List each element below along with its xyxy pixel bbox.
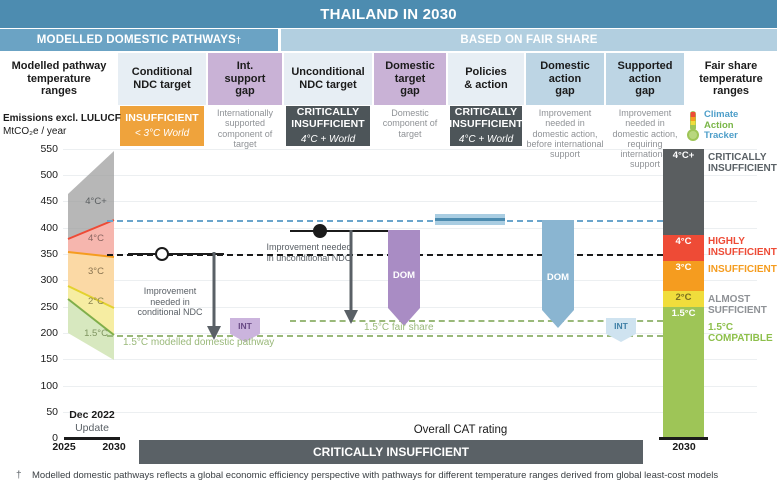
colhead-fair-share-temperature-ranges: Fair share temperature ranges <box>686 53 776 105</box>
refline-policies-action <box>107 220 663 222</box>
colhead-domestic-target-gap: Domestic target gap <box>374 53 446 105</box>
rating-policies-action: CRITICALLY INSUFFICIENT 4°C + World <box>450 106 522 146</box>
fairshare-segment-3c[interactable]: 3°C <box>663 261 704 291</box>
climate-action-tracker-logo: Climate Action Tracker <box>686 108 772 144</box>
fairshare-segment-label: 2°C <box>676 292 692 303</box>
rating-world: 4°C + World <box>301 134 355 145</box>
rating-world: < 3°C World <box>135 128 189 139</box>
colhead-conditional-ndc-target: Conditional NDC target <box>118 53 206 105</box>
colhead-label: Domestic action gap <box>540 60 590 99</box>
unconditional-ndc-line <box>290 230 390 232</box>
colhead-unconditional-ndc-target: Unconditional NDC target <box>284 53 372 105</box>
note-text: Domestic component of target <box>374 108 446 139</box>
fairshare-rating-text: ALMOST SUFFICIENT <box>708 294 767 316</box>
fairshare-segment-4c[interactable]: 4°C <box>663 235 704 261</box>
footnote-text: Modelled domestic pathways reflects a gl… <box>32 470 718 481</box>
overall-cat-rating-value: CRITICALLY INSUFFICIENT <box>313 445 469 459</box>
band-label-1p5c: 1.5°C <box>84 328 108 339</box>
conditional-ndc-gap-arrow <box>206 250 222 342</box>
fairshare-segment-1p5c[interactable]: 1.5°C <box>663 307 704 438</box>
note-text: Internationally supported component of t… <box>208 108 282 149</box>
section-label-left: MODELLED DOMESTIC PATHWAYS <box>37 34 236 46</box>
colhead-label: Fair share temperature ranges <box>699 60 763 99</box>
colhead-supported-action-gap: Supported action gap <box>606 53 684 105</box>
policies-action-central-line <box>435 218 505 221</box>
fairshare-rating-text: CRITICALLY INSUFFICIENT <box>708 152 777 174</box>
fairshare-rating-critically-insufficient: CRITICALLY INSUFFICIENT <box>708 152 777 174</box>
colhead-label: Policies & action <box>464 66 507 92</box>
fairshare-rating-text: HIGHLY INSUFFICIENT <box>708 236 777 258</box>
right-baseline <box>659 437 708 440</box>
band-label-3c: 3°C <box>88 266 104 277</box>
page-title-text: THAILAND IN 2030 <box>320 6 457 23</box>
rating-world: 4°C + World <box>459 134 513 145</box>
fairshare-rating-text: INSUFFICIENT <box>708 264 777 275</box>
page-title: THAILAND IN 2030 <box>0 0 777 28</box>
fairshare-rating-1p5c-compatible: 1.5°C COMPATIBLE <box>708 322 777 344</box>
fairshare-segment-label: 4°C+ <box>673 150 695 161</box>
logo-line-3: Tracker <box>704 131 738 142</box>
rating-label: CRITICALLY INSUFFICIENT <box>291 107 365 131</box>
band-label-4c: 4°C <box>88 233 104 244</box>
colhead-policies-and-action: Policies & action <box>448 53 524 105</box>
colhead-int-support-gap: Int. support gap <box>208 53 282 105</box>
chart-plot-area: 550 500 450 400 350 300 250 200 150 100 … <box>0 146 777 442</box>
footnote-marker: † <box>16 470 22 481</box>
rating-conditional-ndc: INSUFFICIENT < 3°C World <box>120 106 204 146</box>
rating-label: CRITICALLY INSUFFICIENT <box>449 107 523 131</box>
fairshare-rating-insufficient: INSUFFICIENT <box>708 264 777 275</box>
label-1p5c-fair-share: 1.5°C fair share <box>364 322 434 333</box>
rating-unconditional-ndc: CRITICALLY INSUFFICIENT 4°C + World <box>286 106 370 146</box>
svg-text:DOM: DOM <box>393 270 415 281</box>
colhead-domestic-action-gap: Domestic action gap <box>526 53 604 105</box>
overall-cat-rating-bar: CRITICALLY INSUFFICIENT <box>139 440 643 464</box>
domestic-action-gap-arrow[interactable]: DOM <box>542 220 574 332</box>
colhead-label: Int. support gap <box>225 60 266 99</box>
colhead-modelled-pathway-temperature-ranges: Modelled pathway temperature ranges <box>2 53 116 105</box>
xlabel-2025: 2025 <box>44 441 84 453</box>
note-domestic-target-gap: Domestic component of target <box>374 106 446 150</box>
overall-cat-rating-label: Overall CAT rating <box>278 424 643 436</box>
band-label-2c: 2°C <box>88 296 104 307</box>
unconditional-ndc-marker[interactable] <box>313 224 327 238</box>
note-int-support-gap: Internationally supported component of t… <box>208 106 282 150</box>
xlabel-2030-right: 2030 <box>663 441 705 453</box>
colhead-label: Domestic target gap <box>385 60 435 99</box>
domestic-target-gap-arrow[interactable]: DOM <box>388 230 420 330</box>
conditional-ndc-gap-label: Improvement needed in conditional NDC <box>136 286 204 318</box>
conditional-ndc-marker[interactable] <box>155 247 169 261</box>
y-axis-subtitle: MtCO₂e / year <box>3 126 66 137</box>
section-label-right: BASED ON FAIR SHARE <box>460 34 597 46</box>
section-left-dagger: † <box>236 35 241 45</box>
left-baseline <box>64 437 120 440</box>
fairshare-segment-label: 4°C <box>676 236 692 247</box>
fairshare-rating-almost-sufficient: ALMOST SUFFICIENT <box>708 294 777 316</box>
label-1p5c-modelled-pathway: 1.5°C modelled domestic pathway <box>123 337 274 348</box>
fairshare-segment-2c[interactable]: 2°C <box>663 291 704 307</box>
note-supported-action-gap: Improvement needed in domestic action, r… <box>606 106 684 150</box>
update-label: Update <box>52 422 132 434</box>
int-badge-label-blue: INT <box>614 321 628 331</box>
y-axis-title: Emissions excl. LULUCF <box>3 113 121 124</box>
thermometer-icon <box>686 110 700 142</box>
svg-text:DOM: DOM <box>547 272 569 283</box>
int-badge-label: INT <box>238 321 252 331</box>
unconditional-ndc-gap-label: Improvement needed in unconditional NDC <box>266 242 352 263</box>
colhead-label: Unconditional NDC target <box>291 66 364 92</box>
update-date: Dec 2022 <box>52 409 132 421</box>
section-based-on-fair-share: BASED ON FAIR SHARE <box>281 29 777 51</box>
logo-text: Climate Action Tracker <box>704 110 738 142</box>
colhead-label: Supported action gap <box>618 60 673 99</box>
section-modelled-domestic-pathways: MODELLED DOMESTIC PATHWAYS† <box>0 29 278 51</box>
colhead-label: Conditional NDC target <box>132 66 193 92</box>
fairshare-segment-4c-plus[interactable]: 4°C+ <box>663 149 704 235</box>
xlabel-2030-left: 2030 <box>94 441 134 453</box>
fairshare-rating-highly-insufficient: HIGHLY INSUFFICIENT <box>708 236 777 258</box>
fairshare-segment-label: 3°C <box>676 262 692 273</box>
fairshare-rating-text: 1.5°C COMPATIBLE <box>708 322 773 344</box>
colhead-label: Modelled pathway temperature ranges <box>12 60 107 99</box>
rating-label: INSUFFICIENT <box>125 113 199 125</box>
note-domestic-action-gap: Improvement needed in domestic action, b… <box>526 106 604 150</box>
band-label-4c-plus: 4°C+ <box>85 196 107 207</box>
fairshare-segment-label: 1.5°C <box>672 308 696 319</box>
